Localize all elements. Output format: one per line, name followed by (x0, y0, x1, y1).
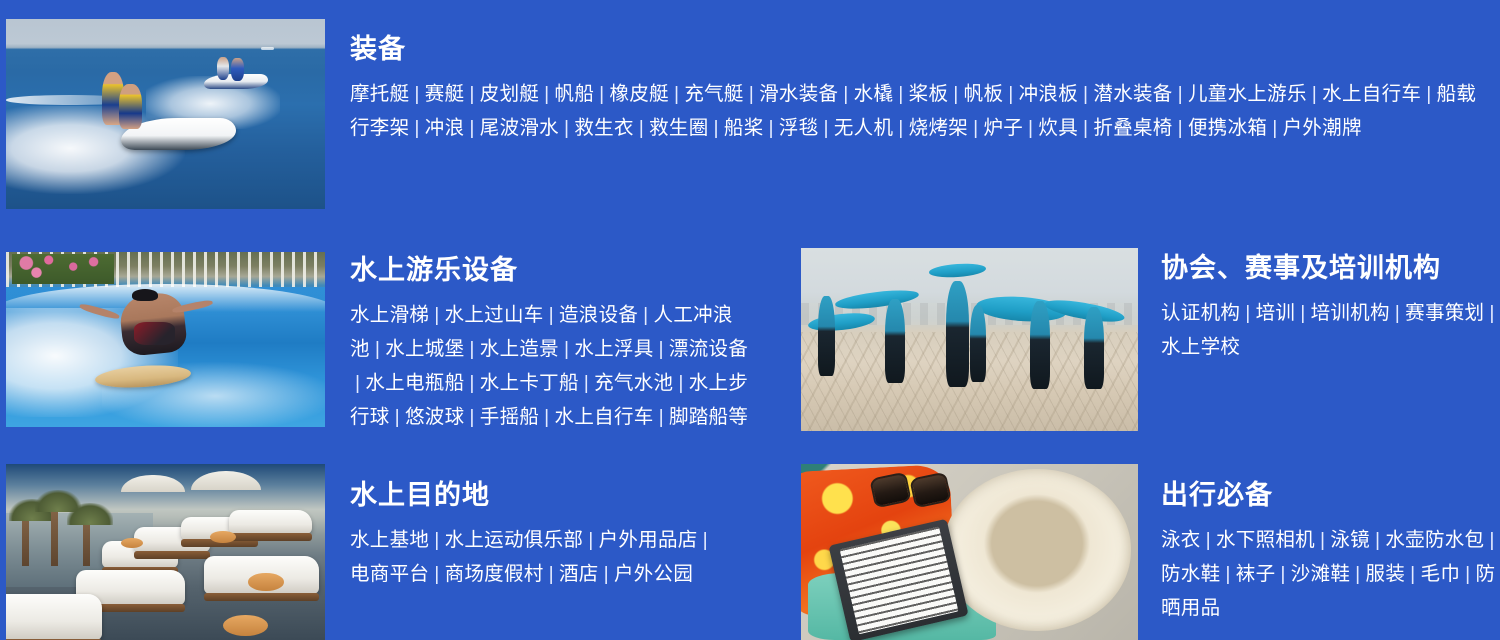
tag-item[interactable]: 赛艇 (425, 83, 465, 105)
tag-separator: | (1315, 523, 1330, 557)
tag-separator: | (539, 400, 554, 434)
surfer-person-6 (1084, 307, 1104, 389)
tag-separator: | (1173, 111, 1188, 145)
tag-separator: | (544, 298, 559, 332)
section-card-destination: 水上目的地 水上基地|水上运动俱乐部|户外用品店|电商平台|商场度假村|酒店|户… (6, 464, 766, 640)
tag-separator: | (579, 366, 594, 400)
tag-item[interactable]: 泳衣 (1161, 529, 1201, 551)
tag-separator: | (429, 523, 444, 557)
horizon-boat (261, 47, 274, 50)
tag-item[interactable]: 儿童水上游乐 (1188, 83, 1307, 105)
section-card-play-devices: 水上游乐设备 水上滑梯|水上过山车|造浪设备|人工冲浪池|水上城堡|水上造景|水… (6, 252, 766, 434)
rolled-towel-1 (210, 531, 236, 543)
tag-item[interactable]: 炊具 (1038, 117, 1078, 139)
tag-separator: | (1023, 111, 1038, 145)
tag-separator: | (599, 557, 614, 591)
rolled-towel-3 (223, 615, 268, 636)
tag-separator: | (464, 400, 479, 434)
tag-separator: | (709, 111, 724, 145)
tag-item[interactable]: 手摇船 (480, 406, 539, 428)
tag-separator: | (1220, 557, 1235, 591)
tag-item[interactable]: 认证机构 (1161, 302, 1240, 324)
tag-separator: | (1484, 523, 1499, 557)
tag-item[interactable]: 服装 (1366, 563, 1406, 585)
tag-separator: | (390, 400, 405, 434)
tag-separator: | (583, 523, 598, 557)
tag-separator: | (838, 77, 853, 111)
surfer-shorts (134, 322, 175, 345)
tag-separator: | (464, 77, 479, 111)
surfer-person-2 (885, 299, 905, 383)
tag-item[interactable]: 帆船 (555, 83, 595, 105)
tag-separator: | (744, 77, 759, 111)
tag-separator: | (638, 298, 653, 332)
tag-item[interactable]: 水下照相机 (1216, 529, 1315, 551)
tag-item[interactable]: 户外潮牌 (1283, 117, 1362, 139)
tag-item[interactable]: 水上自行车 (1322, 83, 1421, 105)
tag-item[interactable]: 培训 (1256, 302, 1296, 324)
tag-separator: | (698, 523, 713, 557)
section-card-association: 协会、赛事及培训机构 认证机构|培训|培训机构|赛事策划|水上学校 (801, 248, 1500, 431)
tag-separator: | (1078, 77, 1093, 111)
image-flowrider-surfing (6, 252, 325, 427)
tag-item[interactable]: 救生衣 (574, 117, 633, 139)
lounger-6 (6, 594, 102, 640)
section-title-play-devices: 水上游乐设备 (350, 255, 766, 287)
tag-item[interactable]: 水上自行车 (555, 406, 654, 428)
tag-item[interactable]: 户外用品店 (599, 529, 698, 551)
tag-separator: | (1350, 557, 1365, 591)
tag-item[interactable]: 帆板 (964, 83, 1004, 105)
tag-item[interactable]: 漂流设备 (669, 338, 748, 360)
tag-separator: | (654, 400, 669, 434)
tag-separator: | (654, 332, 669, 366)
tag-item[interactable]: 培训机构 (1311, 302, 1390, 324)
tag-separator: | (1078, 111, 1093, 145)
surf-school-photo (801, 248, 1138, 431)
tag-item[interactable]: 沙滩鞋 (1291, 563, 1350, 585)
tag-item[interactable]: 水上卡丁船 (480, 372, 579, 394)
section-card-equipment: 装备 摩托艇|赛艇|皮划艇|帆船|橡皮艇|充气艇|滑水装备|水橇|桨板|帆板|冲… (6, 19, 1496, 209)
tag-item[interactable]: 泳镜 (1330, 529, 1370, 551)
surfer-person-1 (818, 296, 835, 377)
section-body-association: 协会、赛事及培训机构 认证机构|培训|培训机构|赛事策划|水上学校 (1138, 248, 1500, 364)
section-title-travel: 出行必备 (1161, 480, 1500, 512)
tag-item[interactable]: 脚踏船等 (669, 406, 748, 428)
tag-item[interactable]: 水上浮具 (574, 338, 653, 360)
section-body-play-devices: 水上游乐设备 水上滑梯|水上过山车|造浪设备|人工冲浪池|水上城堡|水上造景|水… (325, 252, 766, 434)
section-card-travel: 出行必备 泳衣|水下照相机|泳镜|水壶防水包|防水鞋|袜子|沙滩鞋|服装|毛巾|… (801, 464, 1500, 640)
tag-item[interactable]: 赛事策划 (1405, 302, 1484, 324)
tag-item[interactable]: 悠波球 (405, 406, 464, 428)
tag-item[interactable]: 摩托艇 (350, 83, 409, 105)
tag-separator: | (429, 557, 444, 591)
tag-item[interactable]: 造浪设备 (559, 304, 638, 326)
tag-separator: | (1421, 77, 1436, 111)
rolled-towel-2 (248, 573, 283, 591)
tag-item[interactable]: 烧烤架 (909, 117, 968, 139)
section-title-association: 协会、赛事及培训机构 (1161, 253, 1500, 285)
tag-item[interactable]: 冲浪 (425, 117, 465, 139)
tag-separator: | (370, 332, 385, 366)
tag-separator: | (1307, 77, 1322, 111)
surfer-person-3 (946, 281, 970, 387)
tag-separator: | (764, 111, 779, 145)
tag-separator: | (350, 366, 365, 400)
tag-item[interactable]: 水上过山车 (445, 304, 544, 326)
tag-item[interactable]: 救生圈 (649, 117, 708, 139)
tag-separator: | (968, 111, 983, 145)
rider-far-b (231, 58, 244, 81)
section-tags-travel: 泳衣|水下照相机|泳镜|水壶防水包|防水鞋|袜子|沙滩鞋|服装|毛巾|防晒用品 (1161, 523, 1500, 625)
tag-item[interactable]: 水上造景 (480, 338, 559, 360)
tag-item[interactable]: 橡皮艇 (610, 83, 669, 105)
tag-item[interactable]: 水上滑梯 (350, 304, 429, 326)
section-body-equipment: 装备 摩托艇|赛艇|皮划艇|帆船|橡皮艇|充气艇|滑水装备|水橇|桨板|帆板|冲… (325, 19, 1496, 145)
tag-item[interactable]: 酒店 (559, 563, 599, 585)
tag-item[interactable]: 潜水装备 (1093, 83, 1172, 105)
tag-separator: | (1405, 557, 1420, 591)
tag-item[interactable]: 桨板 (909, 83, 949, 105)
tag-item[interactable]: 水上运动俱乐部 (445, 529, 584, 551)
straw-hat-crown (990, 496, 1084, 577)
beach-essentials-photo (801, 464, 1138, 640)
tag-item[interactable]: 浮毯 (779, 117, 819, 139)
tag-item[interactable]: 毛巾 (1421, 563, 1461, 585)
tag-item[interactable]: 水橇 (854, 83, 894, 105)
tag-item[interactable]: 电商平台 (350, 563, 429, 585)
tag-separator: | (559, 332, 574, 366)
tag-separator: | (948, 77, 963, 111)
image-surf-school-group (801, 248, 1138, 431)
tag-separator: | (673, 366, 688, 400)
tag-item[interactable]: 船桨 (724, 117, 764, 139)
tag-separator: | (464, 111, 479, 145)
tag-item[interactable]: 水上城堡 (385, 338, 464, 360)
e-reader-screen (839, 526, 958, 633)
surfer-person-4 (970, 305, 987, 382)
section-tags-play-devices: 水上滑梯|水上过山车|造浪设备|人工冲浪池|水上城堡|水上造景|水上浮具|漂流设… (350, 298, 750, 434)
section-tags-destination: 水上基地|水上运动俱乐部|户外用品店|电商平台|商场度假村|酒店|户外公园 (350, 523, 730, 591)
tag-separator: | (544, 557, 559, 591)
tag-separator: | (893, 77, 908, 111)
tag-separator: | (1201, 523, 1216, 557)
tag-item[interactable]: 袜子 (1236, 563, 1276, 585)
section-title-destination: 水上目的地 (350, 480, 766, 512)
tag-separator: | (594, 77, 609, 111)
tag-separator: | (1275, 557, 1290, 591)
tag-separator: | (409, 77, 424, 111)
tag-item[interactable]: 水壶防水包 (1385, 529, 1484, 551)
tag-item[interactable]: 滑水装备 (759, 83, 838, 105)
tag-item[interactable]: 水上学校 (1161, 336, 1240, 358)
flowrider-photo (6, 252, 325, 427)
tag-separator: | (1240, 296, 1255, 330)
surfer-cap (132, 289, 158, 301)
tag-item[interactable]: 防水鞋 (1161, 563, 1220, 585)
tag-separator: | (1267, 111, 1282, 145)
tag-separator: | (1173, 77, 1188, 111)
tag-separator: | (559, 111, 574, 145)
image-resort-pool-loungers (6, 464, 325, 640)
tag-separator: | (893, 111, 908, 145)
image-beach-essentials (801, 464, 1138, 640)
section-title-equipment: 装备 (350, 34, 1496, 66)
tag-separator: | (539, 77, 554, 111)
tag-item[interactable]: 折叠桌椅 (1093, 117, 1172, 139)
section-body-destination: 水上目的地 水上基地|水上运动俱乐部|户外用品店|电商平台|商场度假村|酒店|户… (325, 464, 766, 591)
tag-item[interactable]: 皮划艇 (480, 83, 539, 105)
surfboard-3 (929, 262, 987, 279)
jet-ski-photo (6, 19, 325, 209)
tag-item[interactable]: 商场度假村 (445, 563, 544, 585)
tag-separator: | (634, 111, 649, 145)
tag-item[interactable]: 便携冰箱 (1188, 117, 1267, 139)
resort-photo (6, 464, 325, 640)
tag-item[interactable]: 炉子 (983, 117, 1023, 139)
tag-item[interactable]: 充气艇 (684, 83, 743, 105)
tag-item[interactable]: 水上电瓶船 (365, 372, 464, 394)
surfer-person-5 (1030, 301, 1050, 389)
tag-item[interactable]: 充气水池 (594, 372, 673, 394)
tag-separator: | (464, 332, 479, 366)
tag-item[interactable]: 水上基地 (350, 529, 429, 551)
infographic-board: 装备 摩托艇|赛艇|皮划艇|帆船|橡皮艇|充气艇|滑水装备|水橇|桨板|帆板|冲… (0, 0, 1500, 640)
section-tags-equipment: 摩托艇|赛艇|皮划艇|帆船|橡皮艇|充气艇|滑水装备|水橇|桨板|帆板|冲浪板|… (350, 77, 1495, 145)
tag-separator: | (1370, 523, 1385, 557)
tag-separator: | (819, 111, 834, 145)
image-jet-ski-riders (6, 19, 325, 209)
tag-separator: | (409, 111, 424, 145)
section-body-travel: 出行必备 泳衣|水下照相机|泳镜|水壶防水包|防水鞋|袜子|沙滩鞋|服装|毛巾|… (1138, 464, 1500, 625)
tag-separator: | (464, 366, 479, 400)
tag-separator: | (1390, 296, 1405, 330)
tag-separator: | (429, 298, 444, 332)
tag-separator: | (1003, 77, 1018, 111)
tag-separator: | (1295, 296, 1310, 330)
rider-near-b (119, 84, 141, 130)
section-tags-association: 认证机构|培训|培训机构|赛事策划|水上学校 (1161, 296, 1500, 364)
rider-far-a (217, 57, 230, 80)
tag-separator: | (1484, 296, 1499, 330)
tag-item[interactable]: 户外公园 (614, 563, 693, 585)
flower-planter (12, 254, 114, 284)
tag-item[interactable]: 尾波滑水 (480, 117, 559, 139)
palm-frond-3 (67, 503, 113, 525)
tag-separator: | (669, 77, 684, 111)
lounger-4 (229, 510, 312, 535)
tag-separator: | (1460, 557, 1475, 591)
tag-item[interactable]: 无人机 (834, 117, 893, 139)
tag-item[interactable]: 冲浪板 (1019, 83, 1078, 105)
